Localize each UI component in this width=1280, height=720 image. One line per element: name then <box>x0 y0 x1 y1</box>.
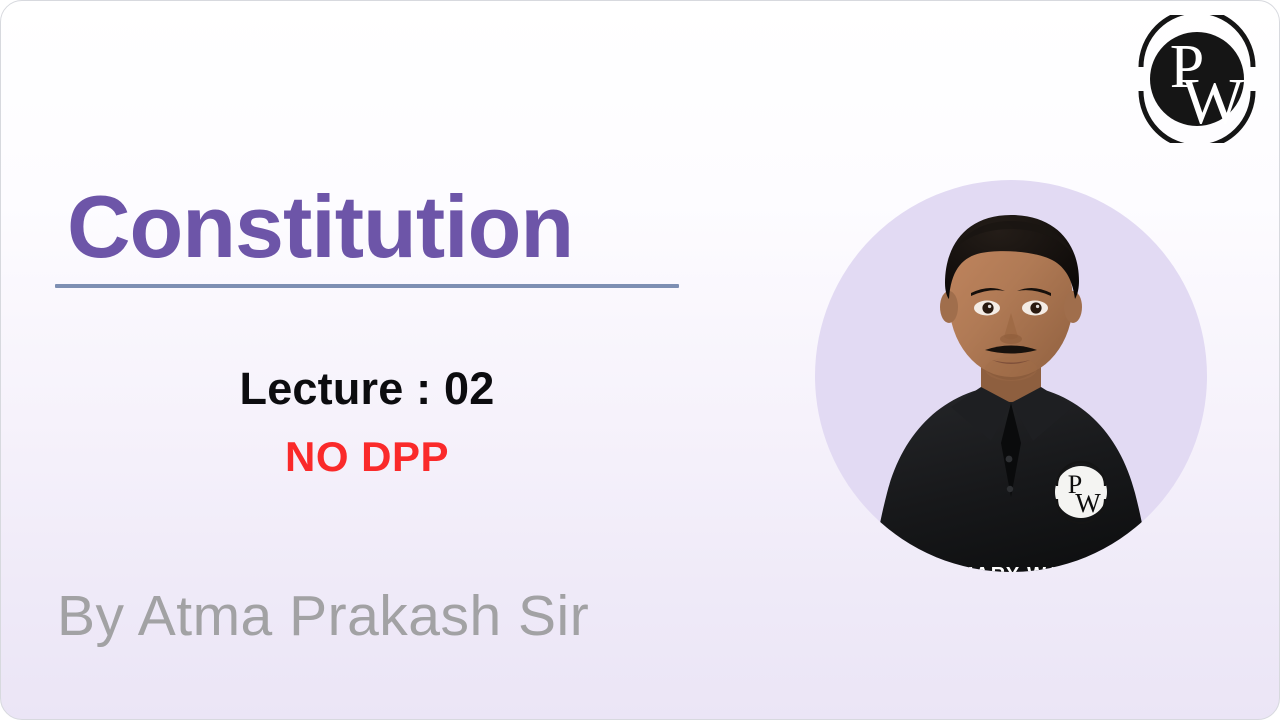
pw-logo: P W <box>1127 15 1267 143</box>
svg-text:W: W <box>1075 488 1101 518</box>
pw-logo-letter-w: W <box>1182 65 1245 138</box>
lecture-label: Lecture : 02 <box>55 363 679 415</box>
shirt-text: JUDICIARY WALLAH <box>901 564 1121 586</box>
title-divider <box>55 284 679 288</box>
dpp-status-badge: NO DPP <box>55 433 679 481</box>
instructor-portrait: P W JUDICIARY WALLAH <box>795 141 1227 603</box>
shirt-pw-badge: P W <box>1055 462 1107 523</box>
slide-canvas: P W Constitution Lecture : 02 NO DPP By … <box>0 0 1280 720</box>
instructor-byline: By Atma Prakash Sir <box>57 583 589 649</box>
page-title: Constitution <box>67 183 573 271</box>
